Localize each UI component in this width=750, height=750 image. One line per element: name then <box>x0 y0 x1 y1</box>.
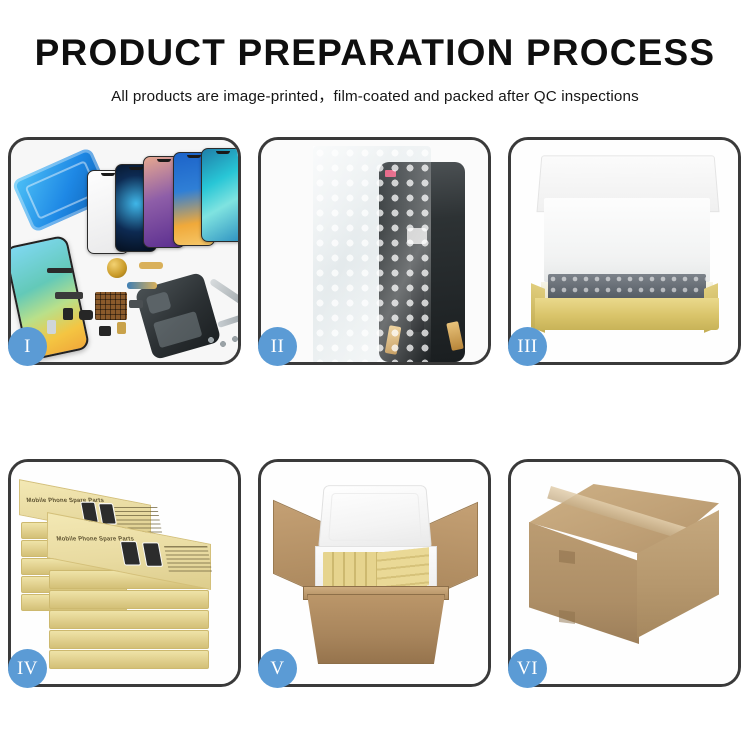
phone-teal-icon <box>201 148 238 242</box>
box-stack: Mobile Phone Spare Parts Mobile Phone Sp… <box>11 462 238 684</box>
step-2-image <box>261 140 488 362</box>
step-badge-5: V <box>258 649 297 688</box>
bubble-wrap-bag <box>313 146 431 362</box>
foam-sheet-icon <box>544 198 710 282</box>
sim-tray-part-icon <box>47 320 56 334</box>
phone-notch-icon <box>129 167 143 170</box>
step-badge-6: VI <box>508 649 547 688</box>
process-steps-grid: I II <box>8 137 742 687</box>
screwdriver-tool-icon <box>217 310 238 328</box>
stacked-box <box>49 630 209 649</box>
plastic-sheen <box>313 146 431 362</box>
page-subtitle: All products are image-printed，film-coat… <box>0 84 750 106</box>
small-part-icon <box>117 322 126 334</box>
phone-notch-icon <box>157 159 171 162</box>
page-header: PRODUCT PREPARATION PROCESS All products… <box>0 34 750 106</box>
stacked-box <box>49 610 209 629</box>
step-1-image <box>11 140 238 362</box>
stacked-box <box>49 650 209 669</box>
phone-notch-icon <box>216 151 230 154</box>
step-badge-3: III <box>508 327 547 366</box>
flex-cable-part-icon <box>127 282 157 289</box>
product-preparation-page: PRODUCT PREPARATION PROCESS All products… <box>0 0 750 750</box>
step-5-image <box>261 462 488 684</box>
small-part-icon <box>99 326 111 336</box>
step-6-image <box>511 462 738 684</box>
small-part-icon <box>63 308 73 320</box>
step-3-image <box>511 140 738 362</box>
step-4-image: Mobile Phone Spare Parts Mobile Phone Sp… <box>11 462 238 684</box>
phone-notch-icon <box>187 155 201 158</box>
box-screen-thumbnail <box>142 542 163 566</box>
process-step-panel-3: III <box>508 137 741 365</box>
speaker-coin-part-icon <box>107 258 127 278</box>
page-title: PRODUCT PREPARATION PROCESS <box>0 34 750 73</box>
flex-cable-part-icon <box>139 262 163 269</box>
phone-notch-icon <box>101 173 115 176</box>
carton-handle-tab <box>559 550 575 564</box>
process-step-panel-4: Mobile Phone Spare Parts Mobile Phone Sp… <box>8 459 241 687</box>
small-part-icon <box>79 310 93 320</box>
foam-cooler-lid <box>318 485 432 550</box>
screws-icon <box>207 336 238 348</box>
step-badge-1: I <box>8 327 47 366</box>
carton-handle-tab <box>559 610 575 624</box>
phone-fan-group <box>85 148 238 263</box>
box-spec-lines <box>164 545 212 571</box>
small-part-icon <box>129 300 143 308</box>
process-step-panel-1: I <box>8 137 241 365</box>
earpiece-bar-part-icon <box>47 268 73 273</box>
process-step-panel-6: VI <box>508 459 741 687</box>
tweezers-tool-icon <box>209 278 238 310</box>
packed-retail-boxes <box>377 547 429 590</box>
step-badge-4: IV <box>8 649 47 688</box>
carton-front-face <box>307 594 445 664</box>
box-screen-thumbnail <box>120 541 141 565</box>
process-step-panel-2: II <box>258 137 491 365</box>
logic-board-chip-icon <box>95 292 127 320</box>
small-part-icon <box>55 292 83 299</box>
kraft-box-front <box>535 298 719 330</box>
step-badge-2: II <box>258 327 297 366</box>
stacked-box <box>49 590 209 609</box>
process-step-panel-5: V <box>258 459 491 687</box>
